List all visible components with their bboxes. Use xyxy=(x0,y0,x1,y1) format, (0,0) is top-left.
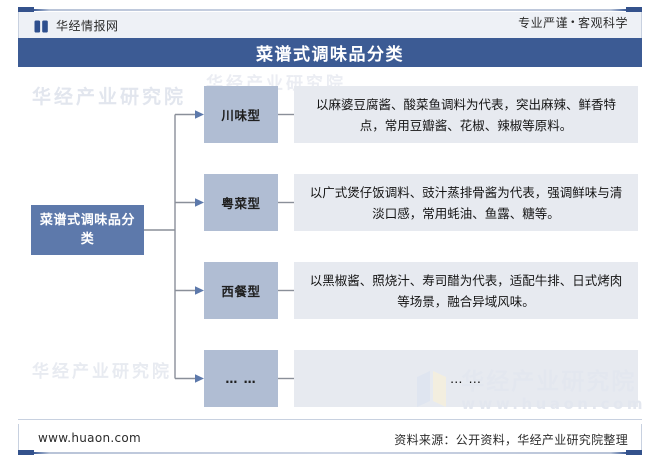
slogan-left: 专业严谨 xyxy=(518,16,568,30)
category-node-label: 川味型 xyxy=(221,105,260,124)
bottom-divider-rule xyxy=(18,452,642,454)
root-node[interactable]: 菜谱式调味品分类 xyxy=(31,205,144,255)
description-node-0[interactable]: 以麻婆豆腐酱、酸菜鱼调料为代表，突出麻辣、鲜香特点，常用豆瓣酱、花椒、辣椒等原料… xyxy=(294,86,638,143)
footer-rule-right-cap xyxy=(626,450,642,455)
brand: 华经情报网 xyxy=(34,16,119,36)
tree-diagram: 菜谱式调味品分类 川味型 以麻婆豆腐酱、酸菜鱼调料为代表，突出麻辣、鲜香特点，常… xyxy=(18,67,642,419)
brand-name: 华经情报网 xyxy=(56,19,119,33)
footer-top-divider xyxy=(18,419,642,420)
description-node-2[interactable]: 以黑椒酱、照烧汁、寿司醋为代表，适配牛排、日式烤肉等场景，融合异域风味。 xyxy=(294,262,638,319)
page-title-bar: 菜谱式调味品分类 xyxy=(18,38,642,67)
root-node-label: 菜谱式调味品分类 xyxy=(37,211,138,249)
category-node-1[interactable]: 粤菜型 xyxy=(204,174,278,231)
description-node-3[interactable]: … … xyxy=(294,350,638,407)
header-slogan: 专业严谨•客观科学 xyxy=(518,16,628,30)
diagram-canvas: 华经产业研究院 华经产业研究院 华经产业研究院 xyxy=(18,67,642,419)
open-book-icon xyxy=(34,20,49,33)
slogan-dot: • xyxy=(568,18,578,28)
description-node-text: 以广式煲仔饭调料、豉汁蒸排骨酱为代表，强调鲜味与清淡口感，常用蚝油、鱼露、糖等。 xyxy=(306,182,626,224)
description-node-1[interactable]: 以广式煲仔饭调料、豉汁蒸排骨酱为代表，强调鲜味与清淡口感，常用蚝油、鱼露、糖等。 xyxy=(294,174,638,231)
footer-source-note: 资料来源：公开资料，华经产业研究院整理 xyxy=(394,431,628,448)
poster-page: 华经情报网 专业严谨•客观科学 菜谱式调味品分类 华经产业研究院 华经产业研究院… xyxy=(0,0,660,464)
footer-rule-left-cap xyxy=(18,450,34,455)
category-node-label: 西餐型 xyxy=(221,281,260,300)
description-node-text: 以麻婆豆腐酱、酸菜鱼调料为代表，突出麻辣、鲜香特点，常用豆瓣酱、花椒、辣椒等原料… xyxy=(306,94,626,136)
category-node-label: 粤菜型 xyxy=(221,193,260,212)
page-title: 菜谱式调味品分类 xyxy=(256,40,404,65)
description-node-text: 以黑椒酱、照烧汁、寿司醋为代表，适配牛排、日式烤肉等场景，融合异域风味。 xyxy=(306,270,626,312)
footer-website[interactable]: www.huaon.com xyxy=(38,431,141,445)
category-node-3[interactable]: … … xyxy=(204,350,278,407)
top-divider-rule xyxy=(18,9,642,11)
category-node-0[interactable]: 川味型 xyxy=(204,86,278,143)
category-node-label: … … xyxy=(225,372,256,386)
slogan-right: 客观科学 xyxy=(578,16,628,30)
description-node-text: … … xyxy=(450,368,482,389)
category-node-2[interactable]: 西餐型 xyxy=(204,262,278,319)
